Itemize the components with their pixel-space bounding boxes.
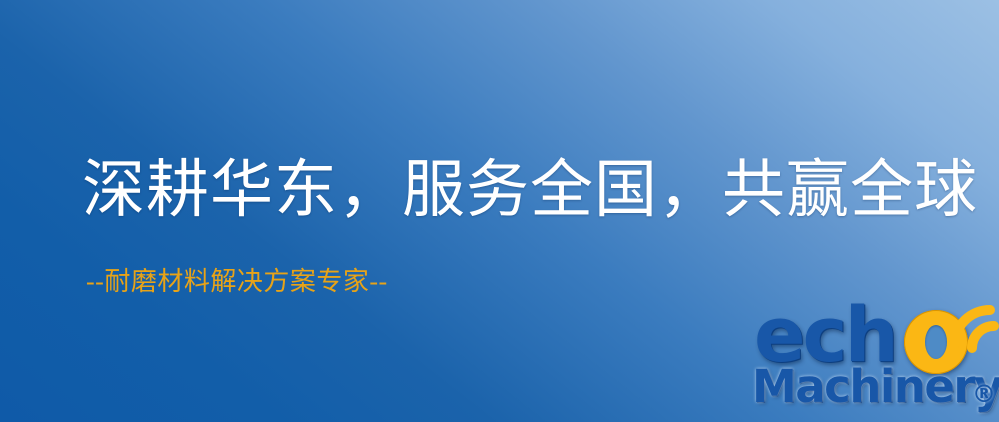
- logo-o-counter: [925, 325, 947, 359]
- banner-subtitle: --耐磨材料解决方案专家--: [86, 265, 388, 299]
- company-logo[interactable]: ech Machinery ®: [752, 296, 996, 418]
- promotional-banner: 深耕华东，服务全国，共赢全球 --耐磨材料解决方案专家-- ech Machin…: [0, 0, 999, 422]
- registered-trademark-icon: ®: [972, 380, 996, 408]
- page-title: 深耕华东，服务全国，共赢全球: [82, 148, 962, 232]
- logo-wordmark-machinery: Machinery: [752, 360, 999, 413]
- signal-wave-icon: [948, 292, 999, 354]
